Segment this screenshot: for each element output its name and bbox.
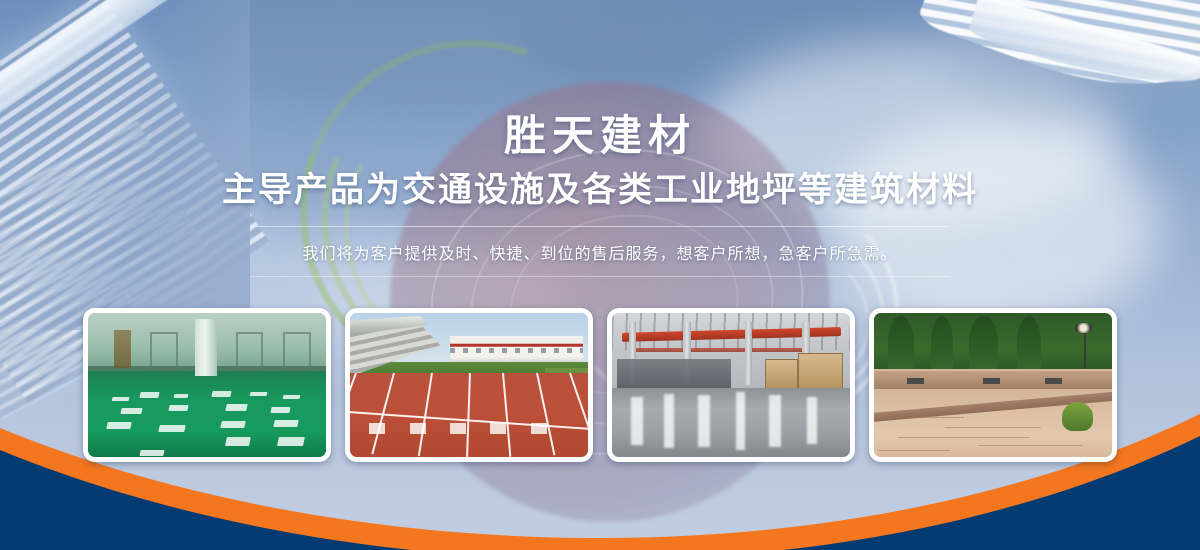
thumbnail-strip bbox=[0, 308, 1200, 462]
banner-title: 胜天建材 bbox=[0, 112, 1200, 159]
thumbnail-green-epoxy-floor[interactable] bbox=[83, 308, 331, 462]
banner-subtitle: 主导产品为交通设施及各类工业地坪等建筑材料 bbox=[0, 171, 1200, 210]
divider-top bbox=[250, 226, 950, 227]
divider-bottom bbox=[250, 276, 950, 277]
thumbnail-running-track[interactable] bbox=[345, 308, 593, 462]
headline-block: 胜天建材 主导产品为交通设施及各类工业地坪等建筑材料 我们将为客户提供及时、快捷… bbox=[0, 112, 1200, 277]
hero-banner: 胜天建材 主导产品为交通设施及各类工业地坪等建筑材料 我们将为客户提供及时、快捷… bbox=[0, 0, 1200, 550]
thumbnail-polished-concrete[interactable] bbox=[607, 308, 855, 462]
banner-tagline: 我们将为客户提供及时、快捷、到位的售后服务，想客户所想，急客户所急需。 bbox=[0, 240, 1200, 264]
thumbnail-stamped-concrete[interactable] bbox=[869, 308, 1117, 462]
